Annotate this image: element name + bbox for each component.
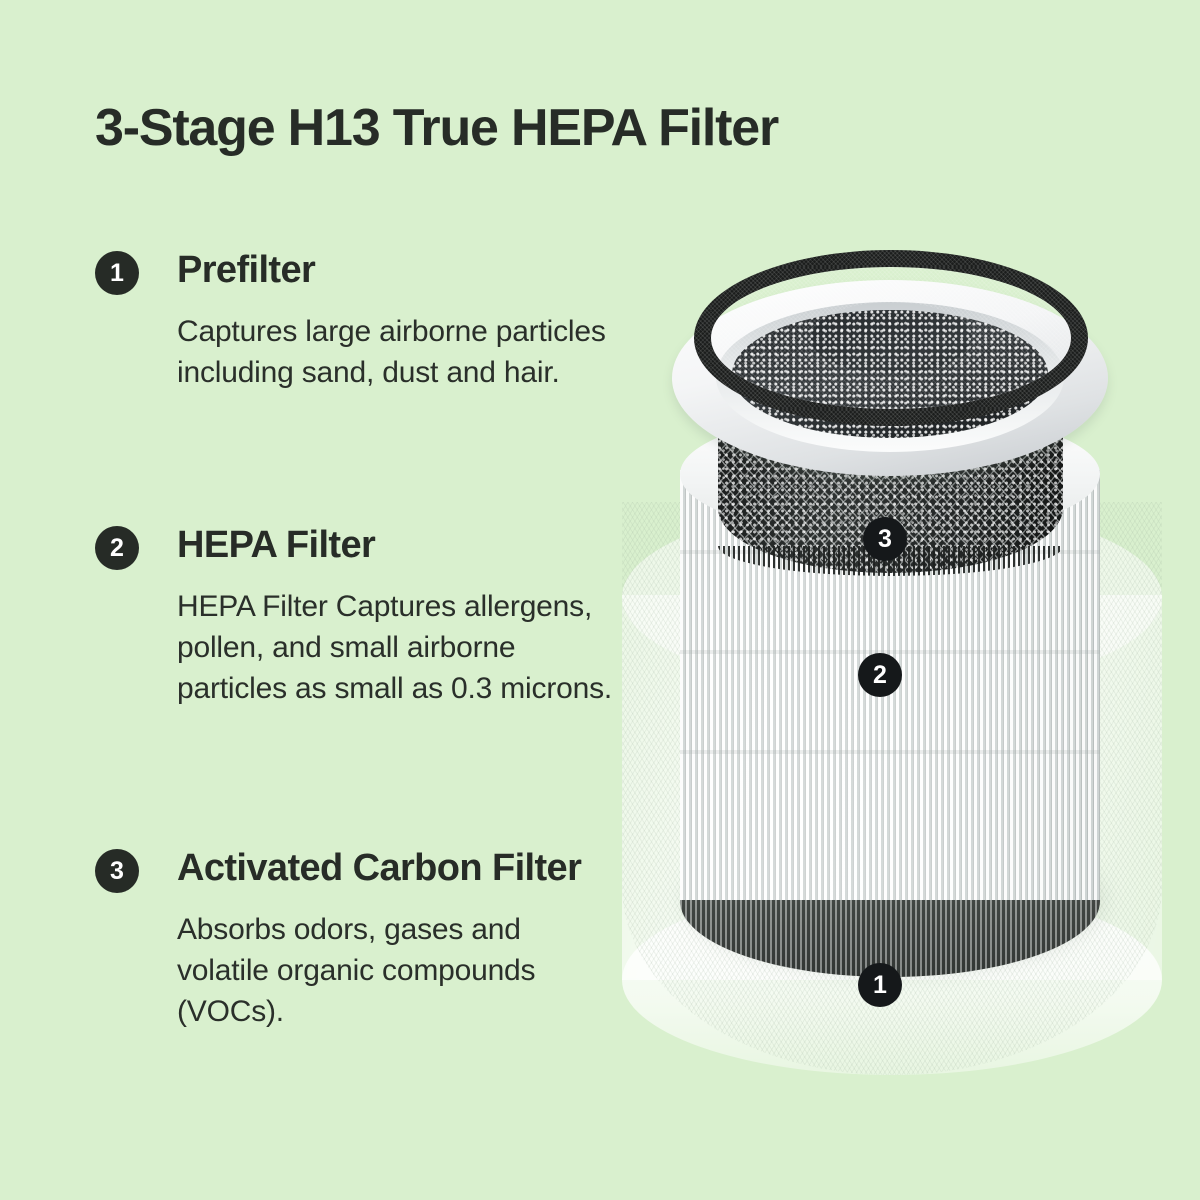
stage-item-activated-carbon-filter: 3 Activated Carbon Filter Absorbs odors,… bbox=[95, 846, 615, 1032]
product-illustration: 3 2 1 bbox=[600, 250, 1200, 1150]
stage-title: HEPA Filter bbox=[177, 524, 375, 566]
page-title: 3-Stage H13 True HEPA Filter bbox=[95, 98, 1075, 158]
stage-header: 2 HEPA Filter bbox=[95, 523, 615, 573]
stage-description: HEPA Filter Captures allergens, pollen, … bbox=[95, 586, 615, 709]
product-marker-2: 2 bbox=[858, 653, 902, 697]
stage-title: Prefilter bbox=[177, 249, 315, 291]
stage-header: 3 Activated Carbon Filter bbox=[95, 846, 615, 896]
stage-number-badge: 2 bbox=[95, 526, 139, 570]
product-marker-1: 1 bbox=[858, 963, 902, 1007]
stage-description: Captures large airborne particles includ… bbox=[95, 311, 615, 393]
stage-title: Activated Carbon Filter bbox=[177, 847, 581, 889]
product-marker-3: 3 bbox=[863, 517, 907, 561]
stage-header: 1 Prefilter bbox=[95, 248, 615, 298]
stage-number-badge: 3 bbox=[95, 849, 139, 893]
stage-description: Absorbs odors, gases and volatile organi… bbox=[95, 909, 615, 1032]
stage-item-prefilter: 1 Prefilter Captures large airborne part… bbox=[95, 248, 615, 393]
stage-item-hepa-filter: 2 HEPA Filter HEPA Filter Captures aller… bbox=[95, 523, 615, 709]
infographic-page: 3-Stage H13 True HEPA Filter 1 Prefilter… bbox=[0, 0, 1200, 1200]
mesh-ring-texture-icon bbox=[694, 250, 1088, 426]
stage-number-badge: 1 bbox=[95, 251, 139, 295]
